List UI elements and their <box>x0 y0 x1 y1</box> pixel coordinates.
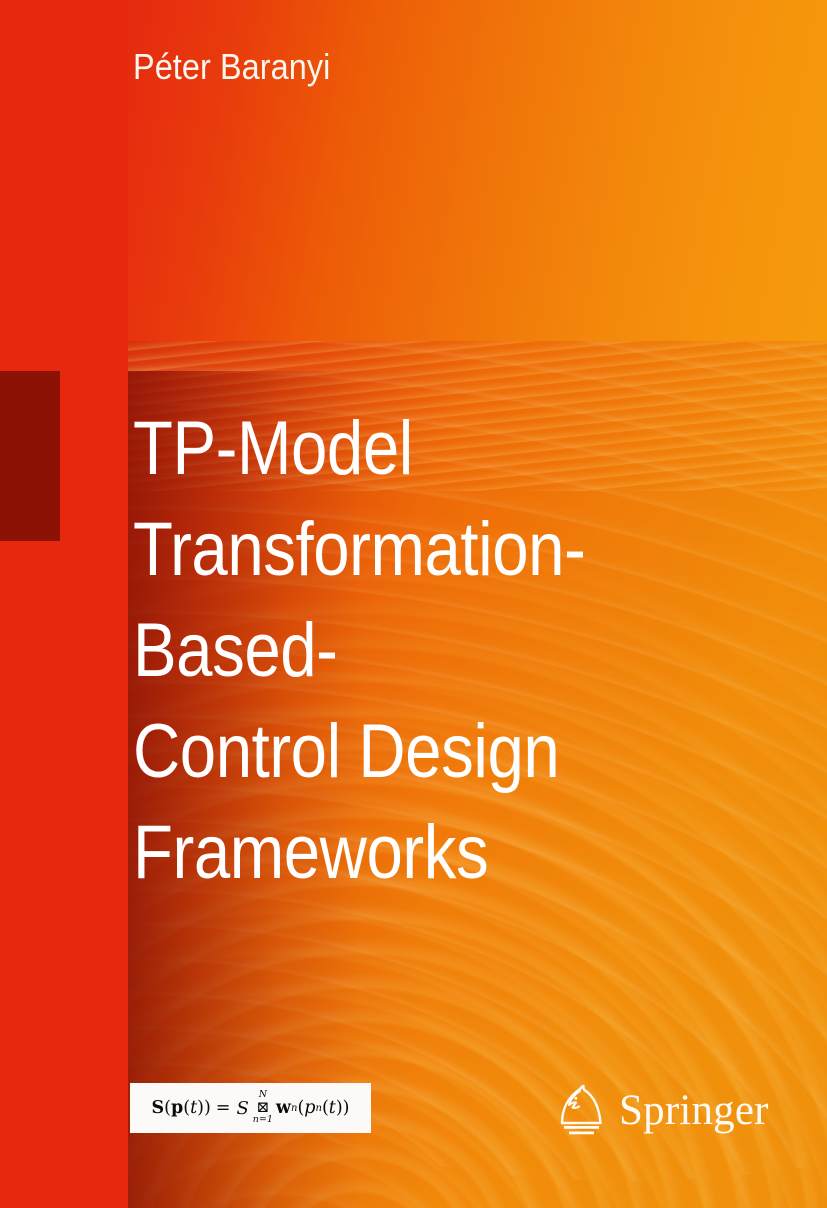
author-name: Péter Baranyi <box>133 46 330 88</box>
book-cover: Péter Baranyi TP-Model Transformation- B… <box>0 0 827 1208</box>
formula-rhs-p-open: ( <box>322 1098 329 1118</box>
publisher-name: Springer <box>619 1088 769 1134</box>
formula-rhs-close: )) <box>336 1098 350 1118</box>
title-line-1: TP-Model <box>133 398 701 499</box>
title-line-3: Based- <box>133 600 701 701</box>
book-title: TP-Model Transformation- Based- Control … <box>133 398 701 903</box>
left-red-column <box>0 0 128 1208</box>
boxtimes-icon: ⊠ <box>257 1100 270 1115</box>
dark-red-square <box>0 371 60 541</box>
formula-box: S(p(t)) = S N ⊠ n=1 wn(pn(t)) <box>130 1083 371 1133</box>
formula-lhs-close: )) <box>197 1098 211 1118</box>
formula-lhs-p: p <box>171 1098 183 1118</box>
publisher-logo: Springer <box>558 1083 769 1139</box>
tp-model-formula: S(p(t)) = S N ⊠ n=1 wn(pn(t)) <box>152 1091 350 1126</box>
springer-knight-icon <box>558 1083 606 1139</box>
formula-rhs-open: ( <box>297 1098 304 1118</box>
formula-script-S: S <box>235 1098 249 1119</box>
title-line-4: Control Design <box>133 701 701 802</box>
formula-lhs-p-open: ( <box>183 1098 190 1118</box>
formula-op-lower: n=1 <box>253 1115 273 1125</box>
formula-lhs-S: S <box>152 1098 165 1118</box>
formula-rhs-w: w <box>276 1098 291 1118</box>
title-line-2: Transformation- <box>133 499 701 600</box>
formula-rhs-t: t <box>329 1098 336 1118</box>
formula-lhs-open: ( <box>164 1098 171 1118</box>
formula-equals: = <box>211 1098 236 1118</box>
title-line-5: Frameworks <box>133 802 701 903</box>
formula-boxtimes-operator: N ⊠ n=1 <box>253 1090 273 1125</box>
formula-rhs-p: p <box>304 1098 315 1118</box>
formula-lhs-t: t <box>190 1098 197 1118</box>
